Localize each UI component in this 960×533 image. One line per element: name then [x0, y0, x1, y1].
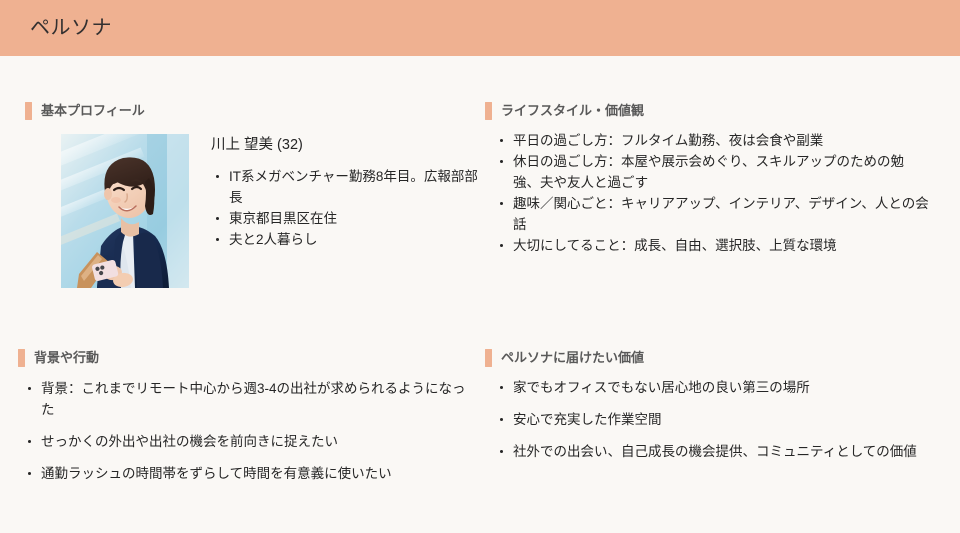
list-item: 夫と2人暮らし — [211, 229, 481, 250]
value-bullet-list: 家でもオフィスでもない居心地の良い第三の場所 安心で充実した作業空間 社外での出… — [497, 377, 930, 462]
list-item: 家でもオフィスでもない居心地の良い第三の場所 — [497, 377, 930, 398]
list-item: IT系メガベンチャー勤務8年目。広報部部長 — [211, 166, 481, 208]
page-title: ペルソナ — [30, 14, 112, 42]
accent-bar-icon — [485, 349, 492, 367]
section-title-lifestyle-values: ライフスタイル・価値観 — [501, 102, 644, 120]
list-item: 東京都目黒区在住 — [211, 208, 481, 229]
list-item: 背景：これまでリモート中心から週3-4の出社が求められるようになった — [25, 378, 468, 420]
list-item: 安心で充実した作業空間 — [497, 409, 930, 430]
profile-text-block: 川上 望美 (32) IT系メガベンチャー勤務8年目。広報部部長 東京都目黒区在… — [211, 134, 481, 250]
section-lifestyle-values: ライフスタイル・価値観 平日の過ごし方：フルタイム勤務、夜は会食や副業 休日の過… — [485, 102, 930, 256]
section-heading-value-to-deliver: ペルソナに届けたい価値 — [485, 349, 930, 367]
list-item: 趣味／関心ごと：キャリアアップ、インテリア、デザイン、人との会話 — [497, 193, 930, 235]
list-item: 通勤ラッシュの時間帯をずらして時間を有意義に使いたい — [25, 463, 468, 484]
section-heading-lifestyle-values: ライフスタイル・価値観 — [485, 102, 930, 120]
accent-bar-icon — [18, 349, 25, 367]
header-band — [0, 0, 960, 56]
profile-bullet-list: IT系メガベンチャー勤務8年目。広報部部長 東京都目黒区在住 夫と2人暮らし — [211, 166, 481, 250]
behavior-bullet-list: 背景：これまでリモート中心から週3-4の出社が求められるようになった せっかくの… — [25, 378, 468, 484]
list-item: せっかくの外出や出社の機会を前向きに捉えたい — [25, 431, 468, 452]
list-item: 平日の過ごし方：フルタイム勤務、夜は会食や副業 — [497, 130, 930, 151]
section-title-value-to-deliver: ペルソナに届けたい価値 — [501, 349, 644, 367]
section-title-background-behavior: 背景や行動 — [34, 349, 99, 367]
section-title-basic-profile: 基本プロフィール — [41, 102, 145, 120]
accent-bar-icon — [485, 102, 492, 120]
section-heading-basic-profile: 基本プロフィール — [25, 102, 465, 120]
section-heading-background-behavior: 背景や行動 — [18, 349, 468, 367]
value-list-wrap: 家でもオフィスでもない居心地の良い第三の場所 安心で充実した作業空間 社外での出… — [497, 377, 930, 462]
lifestyle-list-wrap: 平日の過ごし方：フルタイム勤務、夜は会食や副業 休日の過ごし方：本屋や展示会めぐ… — [497, 130, 930, 256]
section-background-behavior: 背景や行動 背景：これまでリモート中心から週3-4の出社が求められるようになった… — [18, 349, 468, 484]
list-item: 大切にしてること：成長、自由、選択肢、上質な環境 — [497, 235, 930, 256]
persona-name: 川上 望美 (32) — [211, 134, 481, 156]
list-item: 休日の過ごし方：本屋や展示会めぐり、スキルアップのための勉強、夫や友人と過ごす — [497, 151, 930, 193]
accent-bar-icon — [25, 102, 32, 120]
list-item: 社外での出会い、自己成長の機会提供、コミュニティとしての価値 — [497, 441, 930, 462]
persona-photo — [61, 134, 189, 288]
section-value-to-deliver: ペルソナに届けたい価値 家でもオフィスでもない居心地の良い第三の場所 安心で充実… — [485, 349, 930, 462]
section-basic-profile: 基本プロフィール — [25, 102, 465, 294]
behavior-list-wrap: 背景：これまでリモート中心から週3-4の出社が求められるようになった せっかくの… — [25, 378, 468, 484]
profile-row: 川上 望美 (32) IT系メガベンチャー勤務8年目。広報部部長 東京都目黒区在… — [25, 134, 465, 294]
persona-photo-image — [61, 134, 189, 288]
lifestyle-bullet-list: 平日の過ごし方：フルタイム勤務、夜は会食や副業 休日の過ごし方：本屋や展示会めぐ… — [497, 130, 930, 256]
